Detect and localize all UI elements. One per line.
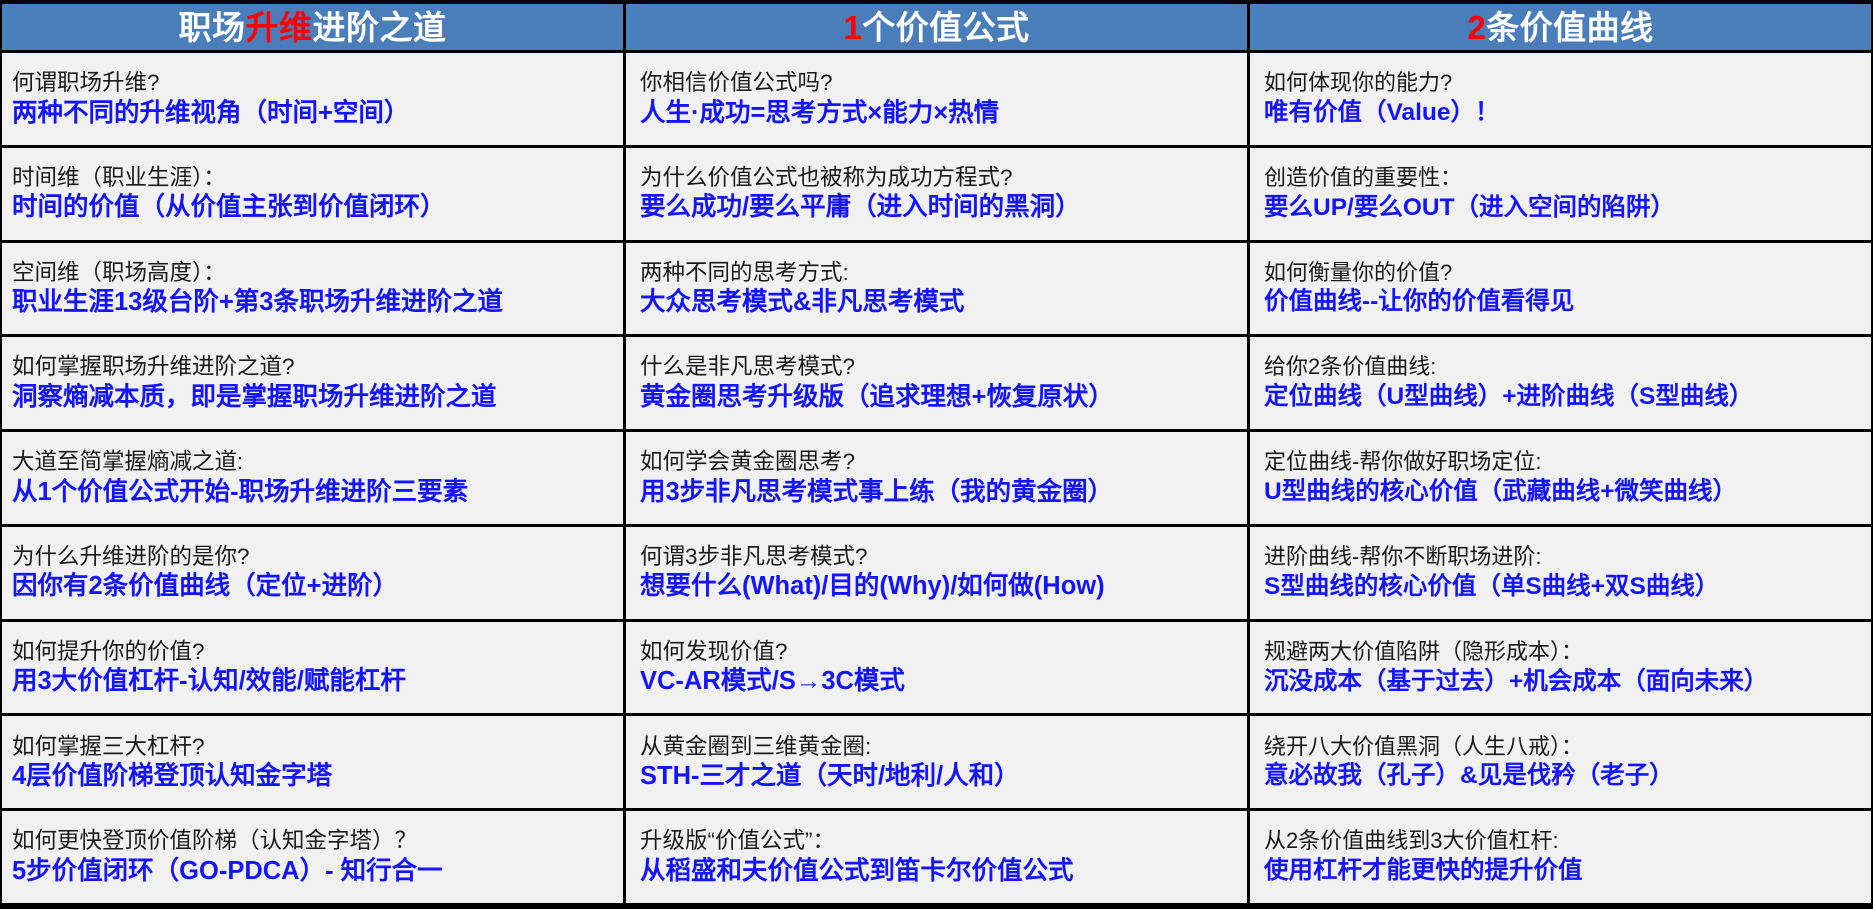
cell-answer: 定位曲线（U型曲线）+进阶曲线（S型曲线） (1264, 382, 1863, 412)
cell-question: 如何提升你的价值? (12, 638, 615, 665)
cell-question: 为什么升维进阶的是你? (12, 543, 615, 570)
cell-answer: 价值曲线--让你的价值看得见 (1264, 287, 1863, 317)
column-1: 职场升维进阶之道 何谓职场升维? 两种不同的升维视角（时间+空间） 时间维（职业… (2, 4, 623, 903)
column-1-header-prefix: 职场 (179, 11, 246, 44)
cell-answer: 4层价值阶梯登顶认知金字塔 (12, 761, 615, 792)
cell-question: 如何掌握职场升维进阶之道? (12, 353, 615, 380)
list-item[interactable]: 为什么价值公式也被称为成功方程式? 要么成功/要么平庸（进入时间的黑洞） (626, 148, 1247, 240)
list-item[interactable]: 为什么升维进阶的是你? 因你有2条价值曲线（定位+进阶） (2, 527, 623, 619)
cell-answer: STH-三才之道（天时/地利/人和） (640, 761, 1239, 792)
list-item[interactable]: 空间维（职场高度）： 职业生涯13级台阶+第3条职场升维进阶之道 (2, 243, 623, 335)
cell-answer: 从稻盛和夫价值公式到笛卡尔价值公式 (640, 856, 1239, 887)
cell-question: 什么是非凡思考模式? (640, 353, 1239, 380)
cell-question: 如何更快登顶价值阶梯（认知金字塔）？ (12, 827, 615, 854)
cell-answer: 想要什么(What)/目的(Why)/如何做(How) (640, 571, 1239, 602)
column-3-header: 2条价值曲线 (1250, 4, 1871, 50)
cell-question: 从2条价值曲线到3大价值杠杆: (1264, 828, 1863, 855)
cell-question: 如何掌握三大杠杆? (12, 733, 615, 760)
cell-question: 何谓3步非凡思考模式? (640, 543, 1239, 570)
cell-answer: 大众思考模式&非凡思考模式 (640, 287, 1239, 318)
cell-answer: 洞察熵减本质，即是掌握职场升维进阶之道 (12, 382, 615, 413)
list-item[interactable]: 升级版“价值公式”： 从稻盛和夫价值公式到笛卡尔价值公式 (626, 811, 1247, 903)
list-item[interactable]: 进阶曲线-帮你不断职场进阶: S型曲线的核心价值（单S曲线+双S曲线） (1250, 527, 1871, 619)
column-1-header-suffix: 进阶之道 (313, 11, 447, 44)
cell-answer: 使用杠杆才能更快的提升价值 (1264, 856, 1863, 886)
slide-root: 职场升维进阶之道 何谓职场升维? 两种不同的升维视角（时间+空间） 时间维（职业… (0, 0, 1873, 909)
column-3: 2条价值曲线 如何体现你的能力? 唯有价值（Value）！ 创造价值的重要性： … (1250, 4, 1871, 903)
list-item[interactable]: 如何掌握三大杠杆? 4层价值阶梯登顶认知金字塔 (2, 716, 623, 808)
cell-answer: 从1个价值公式开始-职场升维进阶三要素 (12, 477, 615, 508)
list-item[interactable]: 如何发现价值? VC-AR模式/S→3C模式 (626, 622, 1247, 714)
list-item[interactable]: 规避两大价值陷阱（隐形成本）： 沉没成本（基于过去）+机会成本（面向未来） (1250, 622, 1871, 714)
list-item[interactable]: 何谓职场升维? 两种不同的升维视角（时间+空间） (2, 53, 623, 145)
cell-answer: 意必故我（孔子）&见是伐矜（老子） (1264, 761, 1863, 791)
three-column-grid: 职场升维进阶之道 何谓职场升维? 两种不同的升维视角（时间+空间） 时间维（职业… (0, 4, 1873, 903)
cell-answer: 要么UP/要么OUT（进入空间的陷阱） (1264, 193, 1863, 223)
cell-question: 时间维（职业生涯）： (12, 164, 615, 191)
list-item[interactable]: 什么是非凡思考模式? 黄金圈思考升级版（追求理想+恢复原状） (626, 337, 1247, 429)
column-2-header: 1个价值公式 (626, 4, 1247, 50)
cell-answer: 因你有2条价值曲线（定位+进阶） (12, 571, 615, 602)
column-2: 1个价值公式 你相信价值公式吗? 人生·成功=思考方式×能力×热情 为什么价值公… (626, 4, 1247, 903)
list-item[interactable]: 定位曲线-帮你做好职场定位: U型曲线的核心价值（武藏曲线+微笑曲线） (1250, 432, 1871, 524)
cell-question: 如何学会黄金圈思考? (640, 448, 1239, 475)
cell-question: 为什么价值公式也被称为成功方程式? (640, 164, 1239, 191)
list-item[interactable]: 创造价值的重要性： 要么UP/要么OUT（进入空间的陷阱） (1250, 148, 1871, 240)
cell-question: 定位曲线-帮你做好职场定位: (1264, 449, 1863, 476)
cell-question: 绕开八大价值黑洞（人生八戒）： (1264, 734, 1863, 761)
column-3-header-highlight: 2 (1467, 11, 1486, 44)
list-item[interactable]: 如何更快登顶价值阶梯（认知金字塔）？ 5步价值闭环（GO-PDCA）- 知行合一 (2, 811, 623, 903)
list-item[interactable]: 如何学会黄金圈思考? 用3步非凡思考模式事上练（我的黄金圈） (626, 432, 1247, 524)
cell-question: 如何体现你的能力? (1264, 70, 1863, 97)
column-2-header-highlight: 1 (843, 11, 862, 44)
cell-question: 大道至简掌握熵减之道: (12, 448, 615, 475)
list-item[interactable]: 你相信价值公式吗? 人生·成功=思考方式×能力×热情 (626, 53, 1247, 145)
list-item[interactable]: 如何掌握职场升维进阶之道? 洞察熵减本质，即是掌握职场升维进阶之道 (2, 337, 623, 429)
cell-question: 何谓职场升维? (12, 69, 615, 96)
list-item[interactable]: 给你2条价值曲线: 定位曲线（U型曲线）+进阶曲线（S型曲线） (1250, 337, 1871, 429)
list-item[interactable]: 如何提升你的价值? 用3大价值杠杆-认知/效能/赋能杠杆 (2, 622, 623, 714)
cell-question: 创造价值的重要性： (1264, 165, 1863, 192)
cell-question: 如何衡量你的价值? (1264, 260, 1863, 287)
cell-question: 你相信价值公式吗? (640, 69, 1239, 96)
column-1-header: 职场升维进阶之道 (2, 4, 623, 50)
column-3-header-suffix: 条价值曲线 (1486, 11, 1654, 44)
list-item[interactable]: 何谓3步非凡思考模式? 想要什么(What)/目的(Why)/如何做(How) (626, 527, 1247, 619)
cell-question: 从黄金圈到三维黄金圈: (640, 733, 1239, 760)
list-item[interactable]: 大道至简掌握熵减之道: 从1个价值公式开始-职场升维进阶三要素 (2, 432, 623, 524)
cell-answer: 5步价值闭环（GO-PDCA）- 知行合一 (12, 856, 615, 887)
cell-answer: 用3大价值杠杆-认知/效能/赋能杠杆 (12, 666, 615, 697)
list-item[interactable]: 时间维（职业生涯）： 时间的价值（从价值主张到价值闭环） (2, 148, 623, 240)
cell-question: 规避两大价值陷阱（隐形成本）： (1264, 639, 1863, 666)
cell-question: 空间维（职场高度）： (12, 259, 615, 286)
list-item[interactable]: 绕开八大价值黑洞（人生八戒）： 意必故我（孔子）&见是伐矜（老子） (1250, 716, 1871, 808)
cell-answer: 唯有价值（Value）！ (1264, 98, 1863, 128)
cell-question: 给你2条价值曲线: (1264, 354, 1863, 381)
cell-question: 两种不同的思考方式: (640, 259, 1239, 286)
cell-answer: VC-AR模式/S→3C模式 (640, 666, 1239, 697)
cell-question: 如何发现价值? (640, 638, 1239, 665)
cell-answer: 时间的价值（从价值主张到价值闭环） (12, 192, 615, 223)
cell-answer: 沉没成本（基于过去）+机会成本（面向未来） (1264, 667, 1863, 697)
column-3-cells: 如何体现你的能力? 唯有价值（Value）！ 创造价值的重要性： 要么UP/要么… (1250, 53, 1871, 903)
column-2-cells: 你相信价值公式吗? 人生·成功=思考方式×能力×热情 为什么价值公式也被称为成功… (626, 53, 1247, 903)
list-item[interactable]: 从2条价值曲线到3大价值杠杆: 使用杠杆才能更快的提升价值 (1250, 811, 1871, 903)
list-item[interactable]: 两种不同的思考方式: 大众思考模式&非凡思考模式 (626, 243, 1247, 335)
cell-answer: 要么成功/要么平庸（进入时间的黑洞） (640, 192, 1239, 223)
column-2-header-suffix: 个价值公式 (862, 11, 1030, 44)
list-item[interactable]: 如何衡量你的价值? 价值曲线--让你的价值看得见 (1250, 243, 1871, 335)
column-1-header-highlight: 升维 (246, 11, 313, 44)
cell-question: 进阶曲线-帮你不断职场进阶: (1264, 544, 1863, 571)
cell-answer: 用3步非凡思考模式事上练（我的黄金圈） (640, 477, 1239, 508)
cell-answer: 两种不同的升维视角（时间+空间） (12, 98, 615, 129)
column-1-cells: 何谓职场升维? 两种不同的升维视角（时间+空间） 时间维（职业生涯）： 时间的价… (2, 53, 623, 903)
cell-answer: 黄金圈思考升级版（追求理想+恢复原状） (640, 382, 1239, 413)
list-item[interactable]: 如何体现你的能力? 唯有价值（Value）！ (1250, 53, 1871, 145)
cell-answer: 职业生涯13级台阶+第3条职场升维进阶之道 (12, 287, 615, 318)
list-item[interactable]: 从黄金圈到三维黄金圈: STH-三才之道（天时/地利/人和） (626, 716, 1247, 808)
cell-answer: U型曲线的核心价值（武藏曲线+微笑曲线） (1264, 477, 1863, 507)
cell-question: 升级版“价值公式”： (640, 827, 1239, 854)
cell-answer: 人生·成功=思考方式×能力×热情 (640, 98, 1239, 129)
cell-answer: S型曲线的核心价值（单S曲线+双S曲线） (1264, 572, 1863, 602)
